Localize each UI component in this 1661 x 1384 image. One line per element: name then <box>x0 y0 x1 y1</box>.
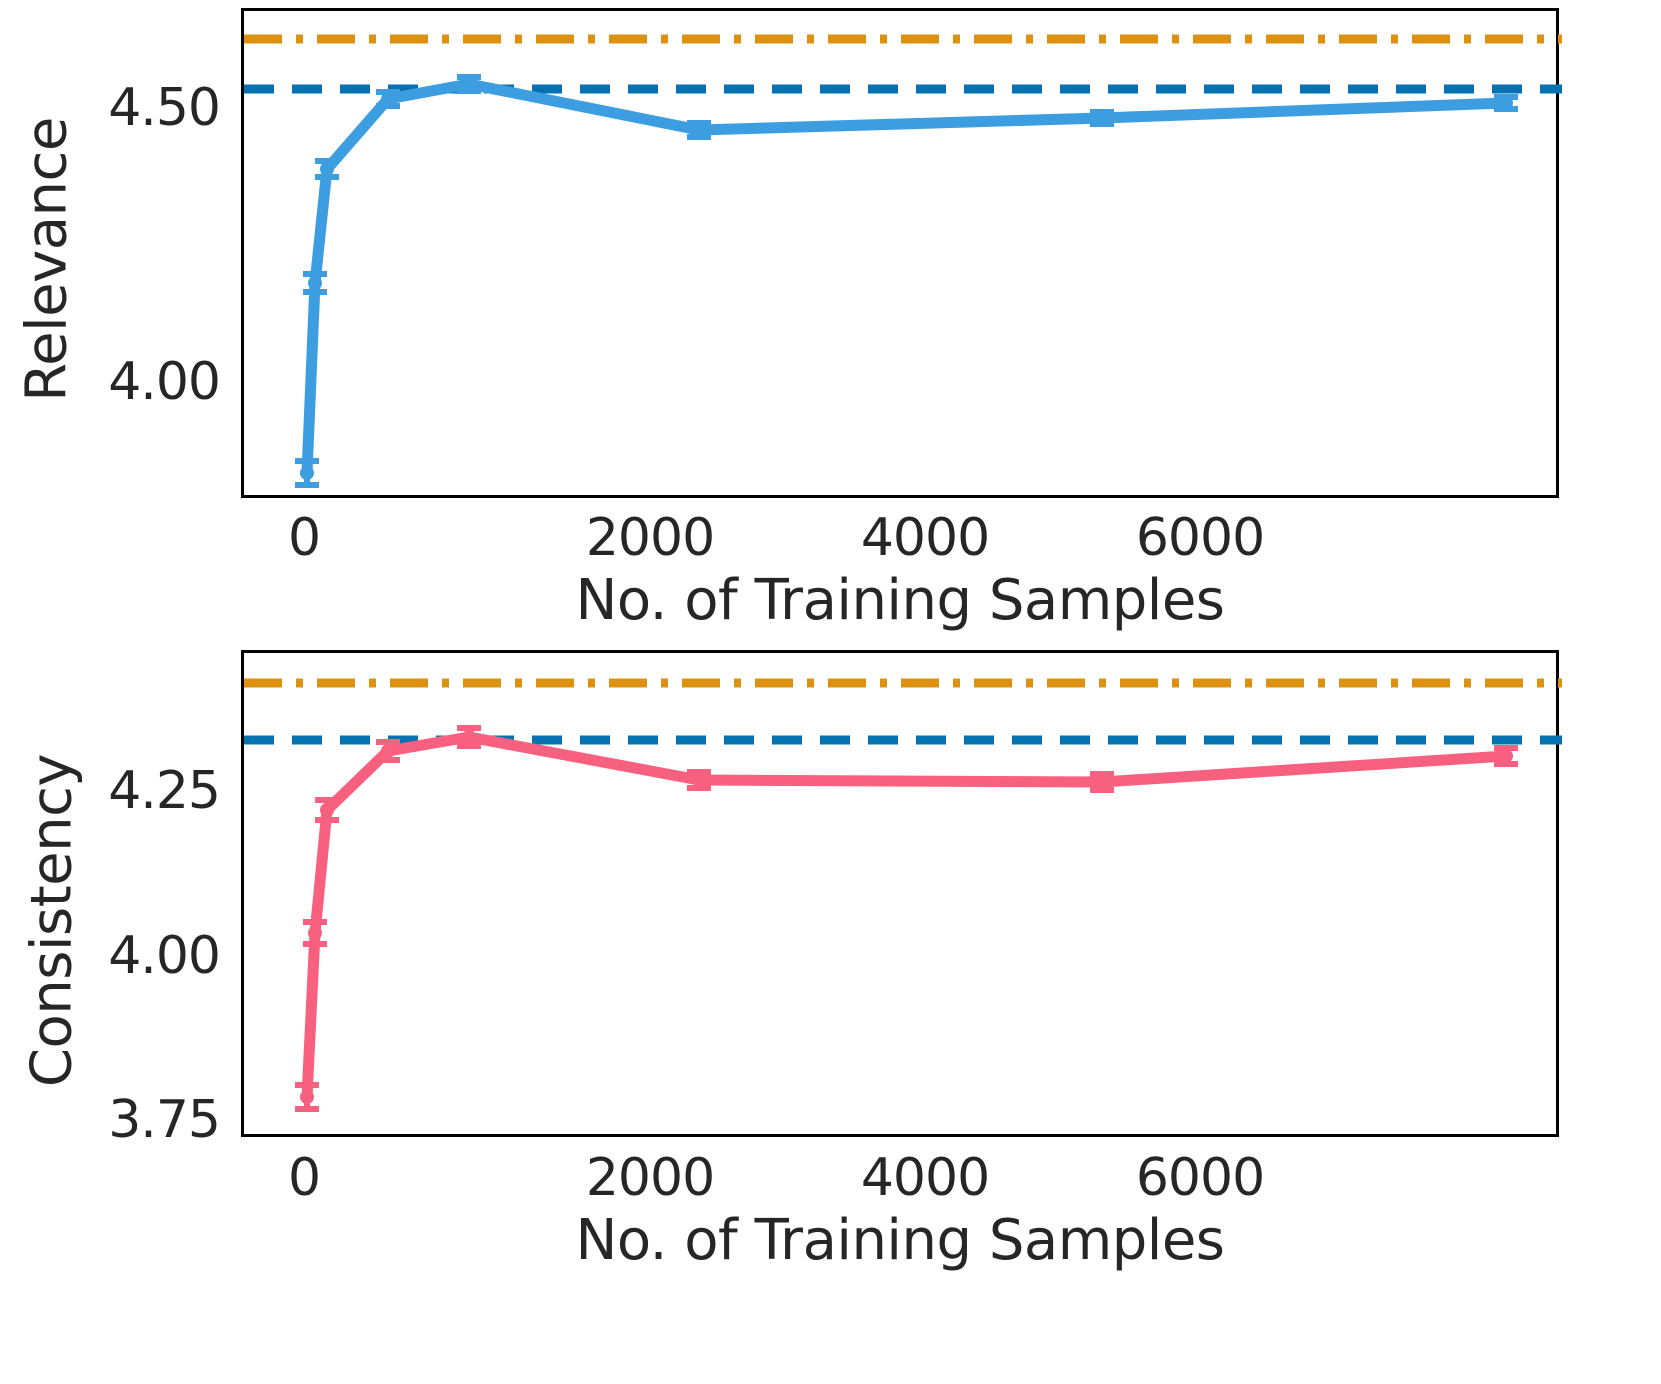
relevance-x-axis-label: No. of Training Samples <box>241 568 1559 633</box>
relevance-x-tick-2000: 2000 <box>550 508 750 568</box>
relevance-series-line <box>307 84 1506 473</box>
consistency-panel: Consistency 4.25 4.00 3.75 <box>0 648 1661 1384</box>
consistency-x-axis-label: No. of Training Samples <box>241 1208 1559 1273</box>
relevance-x-tick-6000: 6000 <box>1100 508 1300 568</box>
consistency-y-tick-4-25: 4.25 <box>60 761 220 821</box>
consistency-series-line <box>307 737 1506 1097</box>
relevance-plot-area <box>241 8 1559 498</box>
consistency-x-tick-2000: 2000 <box>550 1148 750 1208</box>
relevance-x-tick-4000: 4000 <box>825 508 1025 568</box>
consistency-y-tick-4-00: 4.00 <box>60 926 220 986</box>
relevance-data-markers <box>300 77 1513 480</box>
relevance-plot-svg <box>244 11 1562 501</box>
relevance-y-tick-4-50: 4.50 <box>60 78 220 138</box>
relevance-x-tick-0: 0 <box>244 508 364 568</box>
relevance-errorbars <box>295 77 1518 485</box>
consistency-y-tick-3-75: 3.75 <box>60 1090 220 1150</box>
consistency-x-tick-6000: 6000 <box>1100 1148 1300 1208</box>
consistency-x-tick-4000: 4000 <box>825 1148 1025 1208</box>
consistency-plot-area <box>241 650 1559 1137</box>
relevance-y-tick-4-00: 4.00 <box>60 352 220 412</box>
figure-root: Relevance 4.50 4.00 <box>0 0 1661 1384</box>
relevance-panel: Relevance 4.50 4.00 <box>0 0 1661 640</box>
consistency-x-tick-0: 0 <box>244 1148 364 1208</box>
consistency-plot-svg <box>244 653 1562 1140</box>
